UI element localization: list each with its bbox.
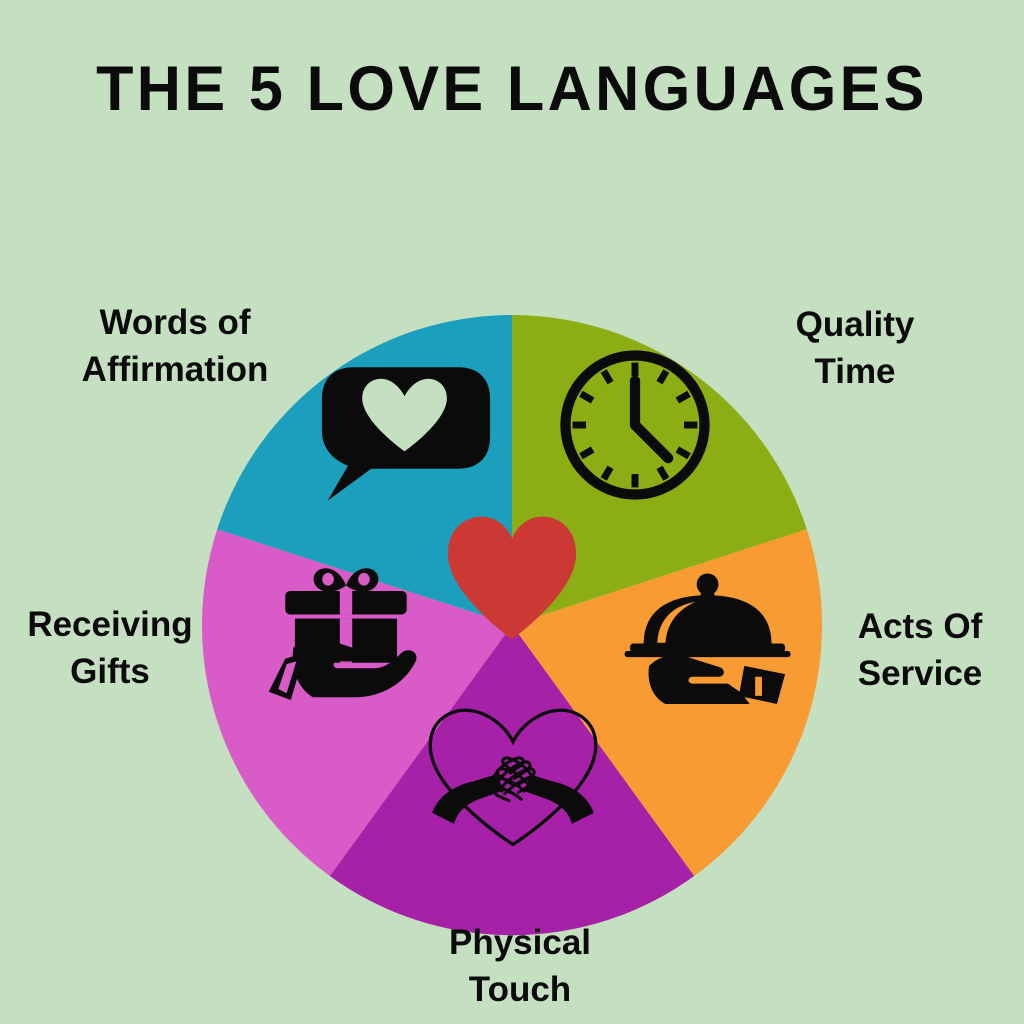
label-physical-touch-line2: Touch xyxy=(412,967,628,1014)
label-receiving-gifts: Receiving Gifts xyxy=(4,602,216,695)
label-receiving-gifts-line2: Gifts xyxy=(4,649,216,696)
label-words-of-affirmation: Words of Affirmation xyxy=(40,300,310,393)
page-title: THE 5 LOVE LANGUAGES xyxy=(15,56,1008,122)
label-acts-of-service-line1: Acts Of xyxy=(820,604,1020,651)
love-languages-pie-chart xyxy=(202,315,822,935)
label-physical-touch-line1: Physical xyxy=(412,920,628,967)
love-languages-infographic: THE 5 LOVE LANGUAGES xyxy=(0,0,1024,1024)
label-quality-time-line1: Quality xyxy=(730,302,980,349)
label-quality-time-line2: Time xyxy=(730,349,980,396)
label-acts-of-service-line2: Service xyxy=(820,651,1020,698)
label-receiving-gifts-line1: Receiving xyxy=(4,602,216,649)
label-acts-of-service: Acts Of Service xyxy=(820,604,1020,697)
label-quality-time: Quality Time xyxy=(730,302,980,395)
label-words-of-affirmation-line1: Words of xyxy=(40,300,310,347)
label-physical-touch: Physical Touch xyxy=(412,920,628,1013)
label-words-of-affirmation-line2: Affirmation xyxy=(40,347,310,394)
